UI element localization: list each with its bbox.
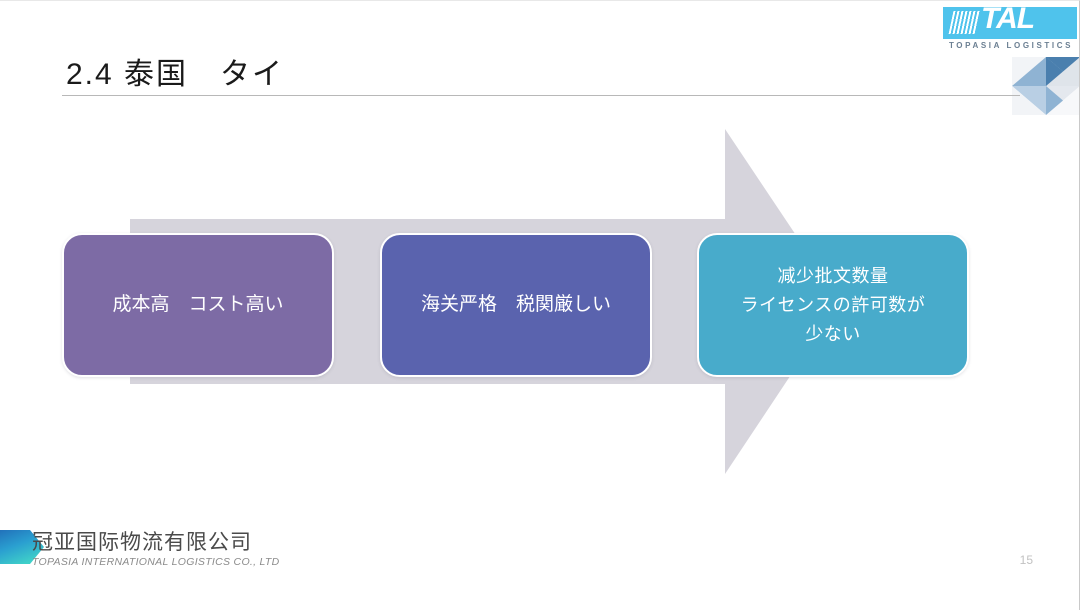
footer-company: 冠亚国际物流有限公司 TOPASIA INTERNATIONAL LOGISTI… bbox=[32, 531, 280, 568]
process-box-license[interactable]: 减少批文数量 ライセンスの許可数が 少ない bbox=[697, 233, 969, 377]
footer-company-en: TOPASIA INTERNATIONAL LOGISTICS CO., LTD bbox=[32, 556, 280, 568]
stripes-icon bbox=[949, 11, 981, 34]
page-number: 15 bbox=[1020, 553, 1033, 567]
pinwheel-decoration-icon bbox=[1012, 57, 1080, 115]
pinwheel-svg bbox=[1012, 57, 1080, 115]
footer-company-cn: 冠亚国际物流有限公司 bbox=[32, 531, 280, 555]
logo-wordmark: TAL bbox=[981, 3, 1034, 35]
process-box-cost[interactable]: 成本高 コスト高い bbox=[62, 233, 334, 377]
process-box-license-label: 减少批文数量 ライセンスの許可数が 少ない bbox=[731, 262, 936, 349]
process-box-customs[interactable]: 海关严格 税関厳しい bbox=[380, 233, 652, 377]
brand-logo: TAL TOPASIA LOGISTICS bbox=[935, 1, 1080, 55]
process-box-cost-label: 成本高 コスト高い bbox=[102, 290, 293, 320]
logo-tagline: TOPASIA LOGISTICS bbox=[945, 41, 1077, 50]
title-divider bbox=[62, 95, 1020, 96]
process-box-customs-label: 海关严格 税関厳しい bbox=[411, 290, 621, 320]
page-title: 2.4 泰国 タイ bbox=[66, 49, 284, 93]
slide-canvas: TAL TOPASIA LOGISTICS 2.4 泰国 タイ bbox=[0, 0, 1080, 610]
